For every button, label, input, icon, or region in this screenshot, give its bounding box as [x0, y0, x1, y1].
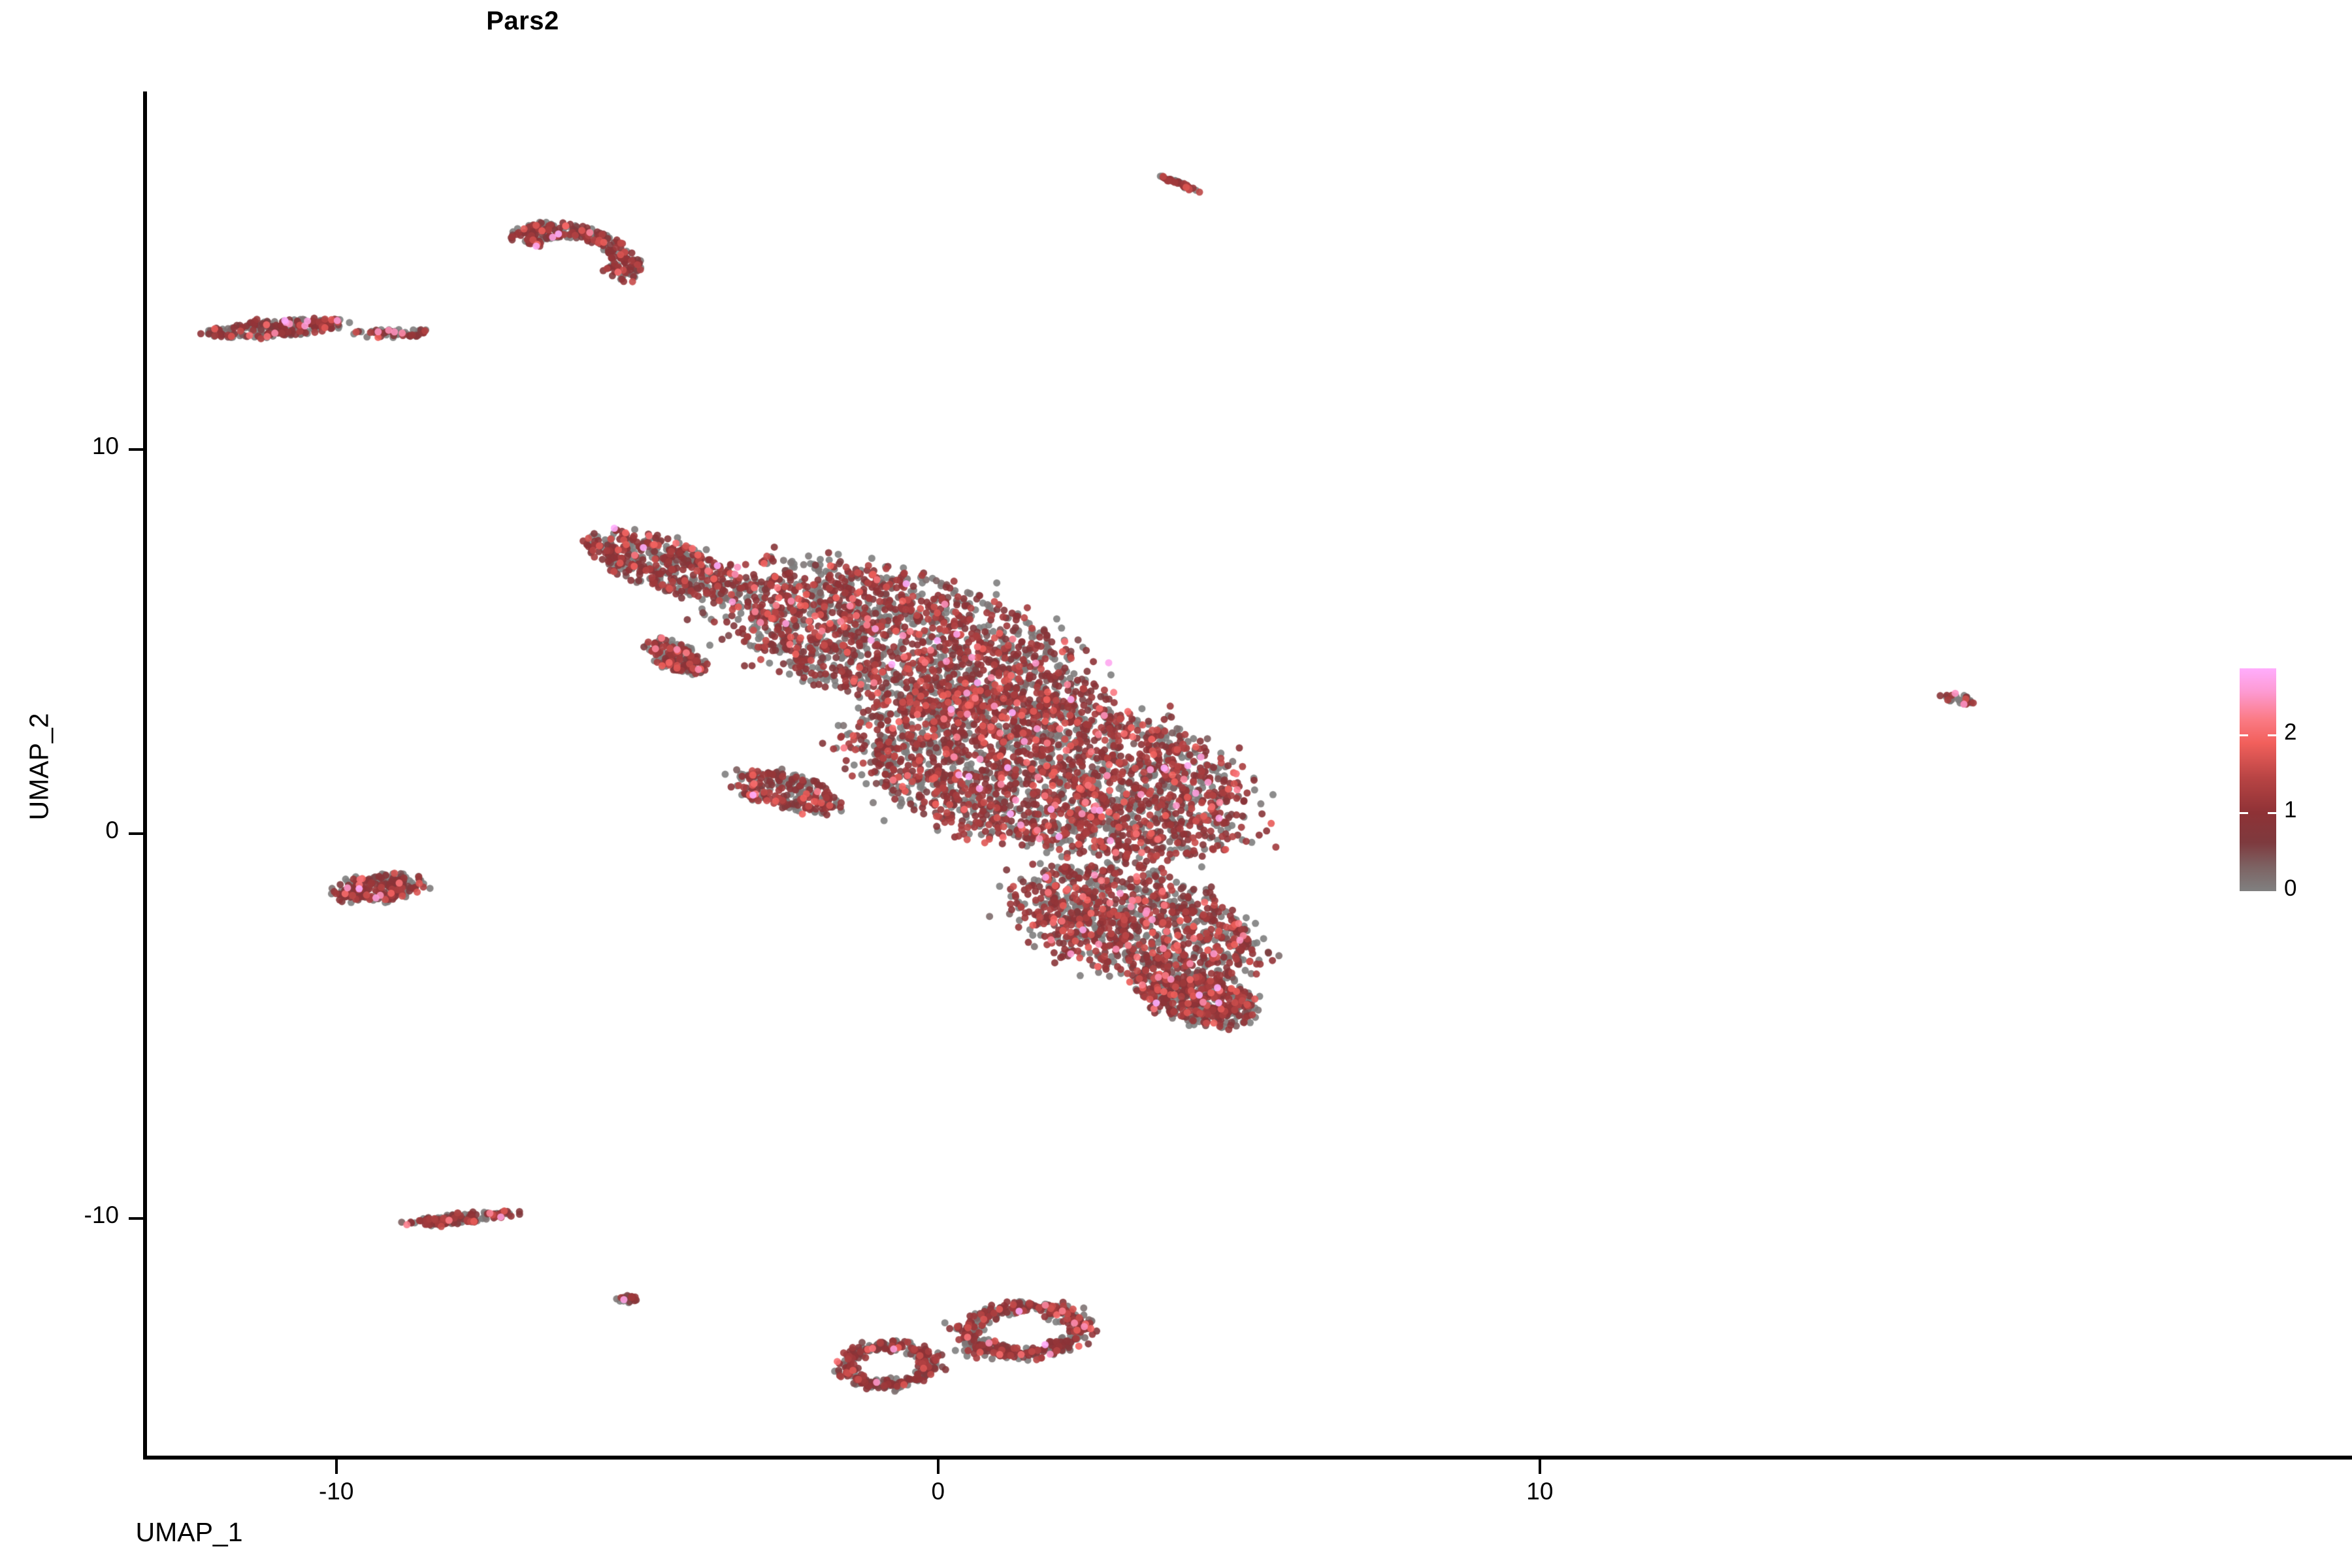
x-tick-mark	[937, 1460, 939, 1474]
x-tick-label: 0	[873, 1478, 1004, 1505]
x-tick-mark	[1539, 1460, 1541, 1474]
y-tick-mark	[129, 832, 143, 835]
y-tick-mark	[129, 1217, 143, 1220]
colorbar-tick-mark	[2240, 812, 2276, 814]
colorbar-gradient	[2240, 668, 2276, 891]
colorbar-tick-label: 2	[2284, 719, 2296, 745]
y-axis-title: UMAP_2	[24, 349, 55, 1185]
x-tick-mark	[335, 1460, 338, 1474]
colorbar-tick-label: 0	[2284, 875, 2296, 902]
page-title: Pars2	[0, 7, 1699, 36]
x-axis-line	[143, 1456, 2352, 1460]
colorbar-legend: 012	[2240, 668, 2344, 897]
y-tick-label: 0	[0, 817, 119, 844]
y-tick-mark	[129, 448, 143, 451]
colorbar-tick-label: 1	[2284, 797, 2296, 823]
y-tick-label: 10	[0, 433, 119, 460]
scatter-canvas	[144, 91, 2202, 1457]
x-tick-label: -10	[271, 1478, 402, 1505]
plot-panel	[144, 91, 2202, 1457]
umap-feature-plot: Pars2 -10010 -10010 UMAP_1 UMAP_2 012	[0, 0, 2352, 1568]
y-tick-label: -10	[0, 1201, 119, 1229]
y-axis-line	[143, 91, 147, 1458]
x-axis-title: UMAP_1	[0, 1517, 1294, 1548]
colorbar-tick-mark	[2240, 734, 2276, 736]
x-tick-label: 10	[1475, 1478, 1605, 1505]
